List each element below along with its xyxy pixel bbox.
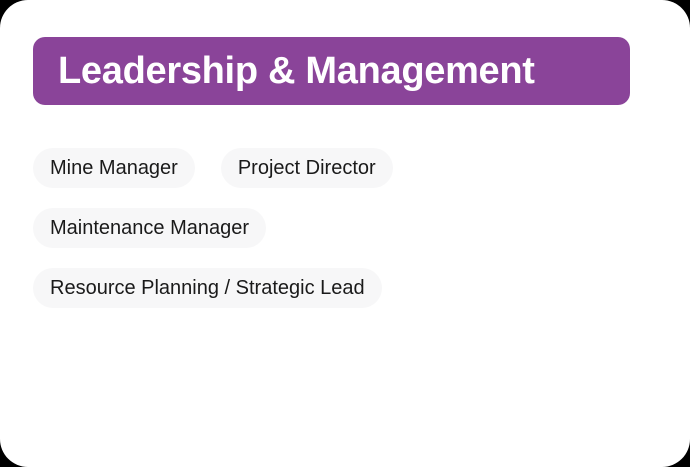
role-chip-row: Resource Planning / Strategic Lead <box>33 268 382 308</box>
category-card: Leadership & Management Mine Manager Pro… <box>0 0 690 467</box>
role-chip-list: Mine Manager Project Director Maintenanc… <box>33 148 657 308</box>
category-title: Leadership & Management <box>58 52 535 90</box>
role-chip-maintenance-manager[interactable]: Maintenance Manager <box>33 208 266 248</box>
category-banner: Leadership & Management <box>33 37 630 105</box>
role-chip-row: Mine Manager Project Director <box>33 148 393 188</box>
role-chip-resource-planning-strategic-lead[interactable]: Resource Planning / Strategic Lead <box>33 268 382 308</box>
role-chip-project-director[interactable]: Project Director <box>221 148 393 188</box>
role-chip-row: Maintenance Manager <box>33 208 266 248</box>
role-chip-mine-manager[interactable]: Mine Manager <box>33 148 195 188</box>
